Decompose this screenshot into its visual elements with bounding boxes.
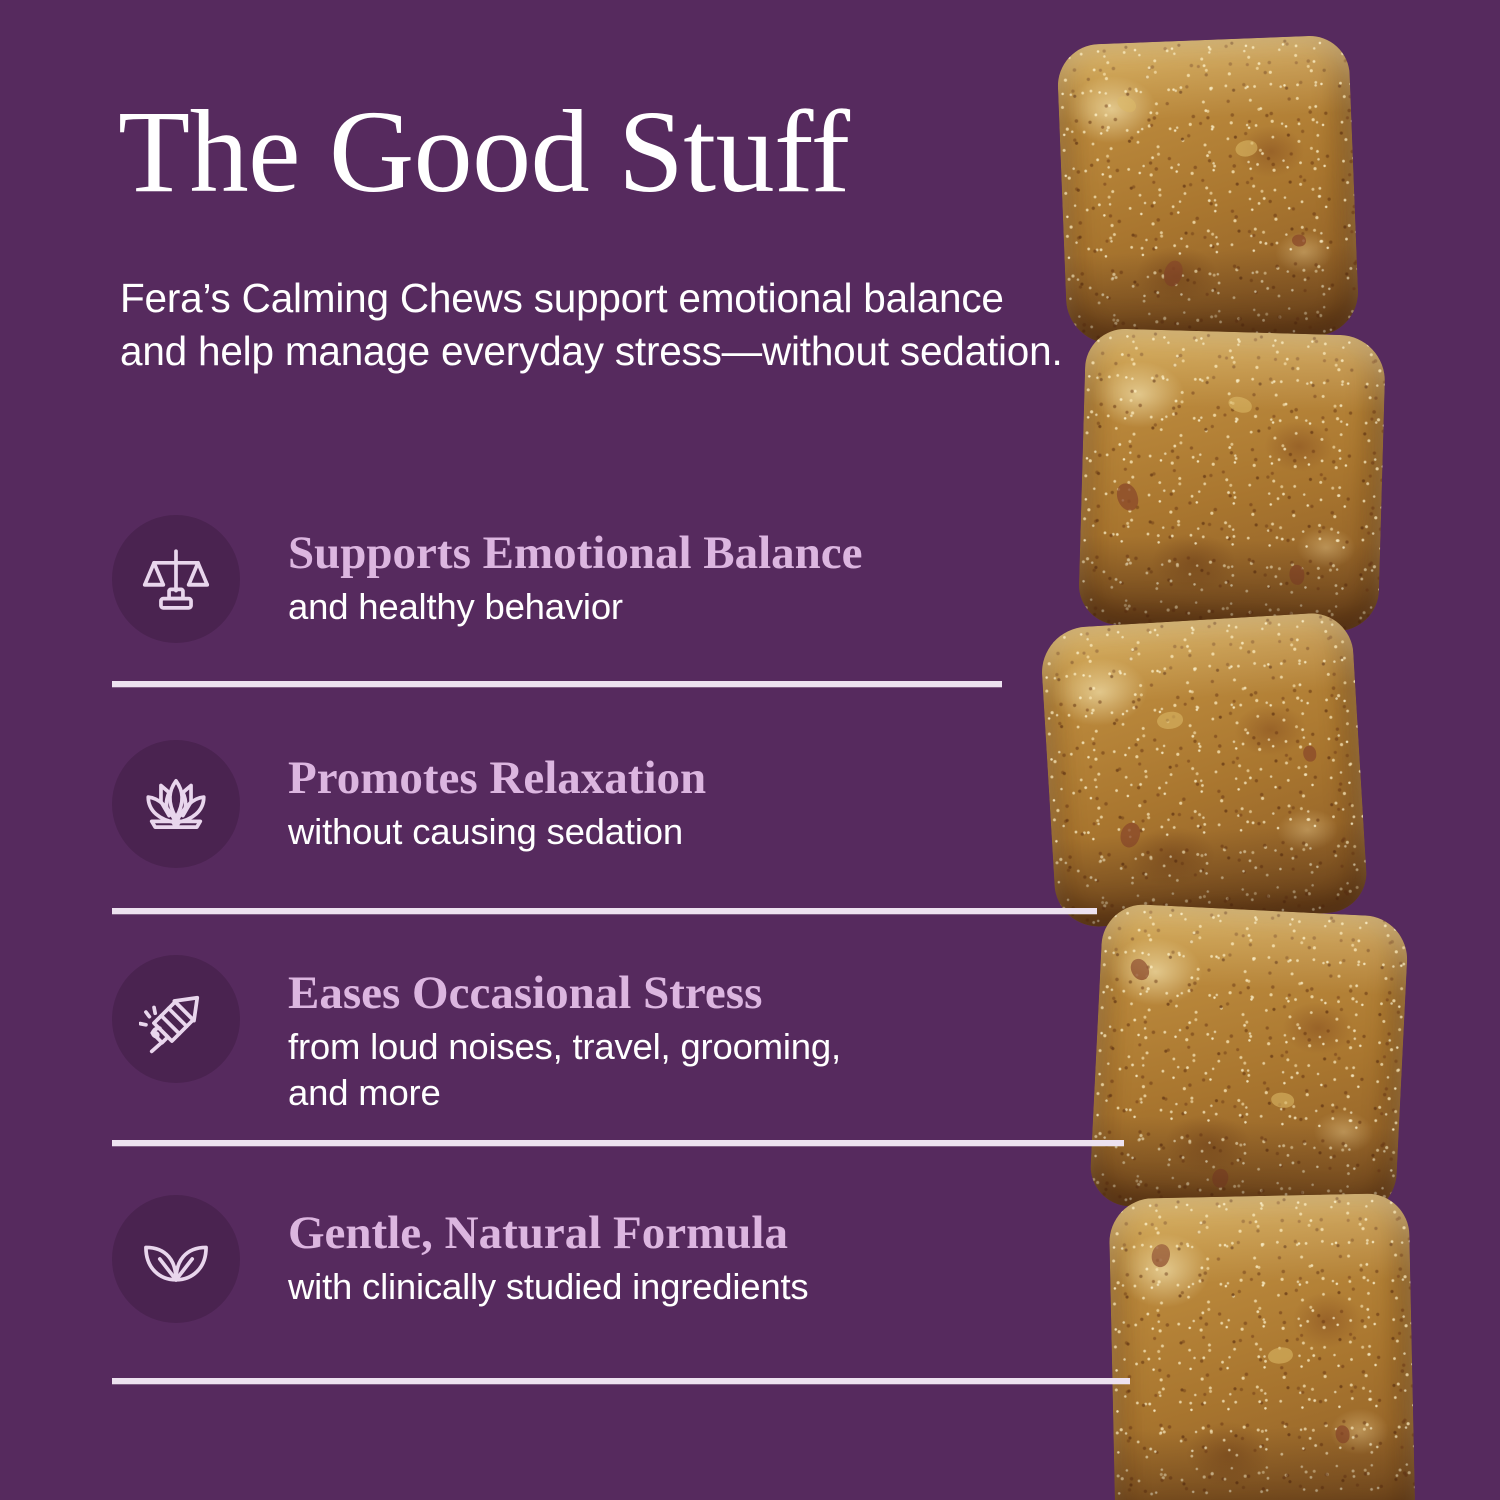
benefit-subtitle-line-1: with clinically studied ingredients bbox=[288, 1266, 809, 1307]
benefit-item-emotional-balance: Supports Emotional Balance and healthy b… bbox=[112, 515, 863, 643]
benefit-title: Supports Emotional Balance bbox=[288, 528, 863, 579]
benefit-divider bbox=[112, 1378, 1130, 1384]
benefit-subtitle: without causing sedation bbox=[288, 809, 706, 855]
benefits-list: Supports Emotional Balance and healthy b… bbox=[0, 0, 1500, 1500]
leaves-icon bbox=[139, 1222, 213, 1296]
benefit-divider bbox=[112, 908, 1097, 914]
product-benefits-infographic: The Good Stuff Fera’s Calming Chews supp… bbox=[0, 0, 1500, 1500]
benefit-divider bbox=[112, 681, 1002, 687]
benefit-subtitle-line-1: and healthy behavior bbox=[288, 586, 623, 627]
balance-scale-icon bbox=[139, 542, 213, 616]
benefit-subtitle-line-2: and more bbox=[288, 1070, 841, 1116]
benefit-subtitle-line-1: from loud noises, travel, grooming, bbox=[288, 1026, 841, 1067]
leaves-icon-badge bbox=[112, 1195, 240, 1323]
benefit-text-block: Supports Emotional Balance and healthy b… bbox=[288, 515, 863, 630]
benefit-subtitle: from loud noises, travel, grooming, and … bbox=[288, 1024, 841, 1116]
benefit-subtitle-line-1: without causing sedation bbox=[288, 811, 683, 852]
benefit-title: Promotes Relaxation bbox=[288, 753, 706, 804]
benefit-item-occasional-stress: Eases Occasional Stress from loud noises… bbox=[112, 955, 841, 1116]
firecracker-icon bbox=[139, 982, 213, 1056]
benefit-divider bbox=[112, 1140, 1124, 1146]
benefit-subtitle: and healthy behavior bbox=[288, 584, 863, 630]
benefit-text-block: Promotes Relaxation without causing seda… bbox=[288, 740, 706, 855]
lotus-flower-icon bbox=[139, 767, 213, 841]
benefit-item-relaxation: Promotes Relaxation without causing seda… bbox=[112, 740, 706, 868]
benefit-subtitle: with clinically studied ingredients bbox=[288, 1264, 809, 1310]
benefit-title: Gentle, Natural Formula bbox=[288, 1208, 809, 1259]
benefit-text-block: Gentle, Natural Formula with clinically … bbox=[288, 1195, 809, 1310]
firecracker-icon-badge bbox=[112, 955, 240, 1083]
lotus-flower-icon-badge bbox=[112, 740, 240, 868]
benefit-text-block: Eases Occasional Stress from loud noises… bbox=[288, 955, 841, 1116]
balance-scale-icon-badge bbox=[112, 515, 240, 643]
benefit-title: Eases Occasional Stress bbox=[288, 968, 841, 1019]
benefit-item-natural-formula: Gentle, Natural Formula with clinically … bbox=[112, 1195, 809, 1323]
